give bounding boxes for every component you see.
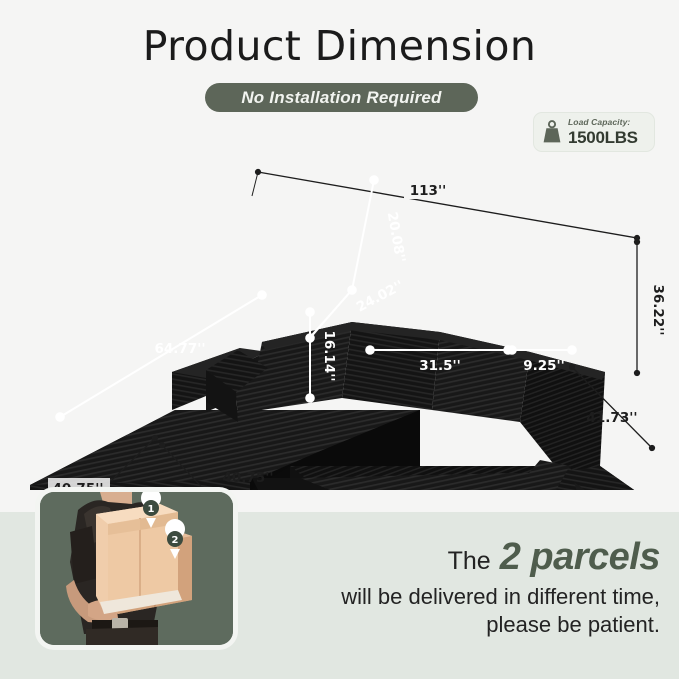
delivery-message-line1: The 2 parcels [300, 536, 660, 579]
delivery-photo: 1 2 [40, 492, 233, 645]
dimension-overall-height: 36.22'' [637, 242, 666, 373]
dimension-label-sofa-depth: 41.73'' [587, 410, 638, 426]
product-dimension-diagram: 113'' 36.22'' 64.77'' 20.08'' [0, 160, 679, 490]
dimension-label-backrest-height: 20.08'' [384, 211, 409, 264]
delivery-photo-card: 1 2 [40, 492, 233, 645]
parcel-marker-1-label: 1 [148, 504, 155, 515]
dimension-label-seat-depth: 24.02'' [354, 277, 407, 315]
dimension-label-chaise-length: 64.77'' [155, 341, 206, 357]
dimension-label-overall-height: 36.22'' [650, 285, 666, 336]
no-installation-badge-label: No Installation Required [241, 88, 441, 108]
page-title: Product Dimension [0, 22, 679, 70]
dimension-label-seat-width: 31.5'' [419, 358, 461, 374]
delivery-message-parcels: 2 parcels [500, 536, 660, 579]
sofa-illustration: 113'' 36.22'' 64.77'' 20.08'' [0, 160, 679, 490]
weight-icon [541, 120, 563, 144]
delivery-message-line2: will be delivered in different time, [300, 583, 660, 612]
dimension-overall-width: 113'' [252, 172, 637, 256]
dimension-label-overall-width: 113'' [410, 183, 446, 199]
load-capacity-value: 1500LBS [568, 129, 638, 146]
load-capacity-label: Load Capacity: [568, 118, 638, 127]
delivery-message: The 2 parcels will be delivered in diffe… [300, 536, 660, 640]
dimension-label-seat-height: 16.14'' [321, 331, 337, 382]
load-capacity-text: Load Capacity: 1500LBS [568, 118, 638, 146]
dimension-label-chaise-depth-front: 40.75'' [53, 481, 104, 490]
delivery-message-line3: please be patient. [300, 611, 660, 640]
parcel-box-1 [96, 504, 182, 614]
dimension-label-armrest-width: 9.25'' [523, 358, 565, 374]
no-installation-badge: No Installation Required [205, 83, 478, 112]
delivery-message-the: The [448, 547, 491, 575]
infographic-root: Product Dimension No Installation Requir… [0, 0, 679, 679]
parcel-marker-2-label: 2 [172, 535, 179, 546]
load-capacity-chip: Load Capacity: 1500LBS [533, 112, 655, 152]
dimension-label-chaise-depth-side: 40.75'' [223, 470, 274, 486]
